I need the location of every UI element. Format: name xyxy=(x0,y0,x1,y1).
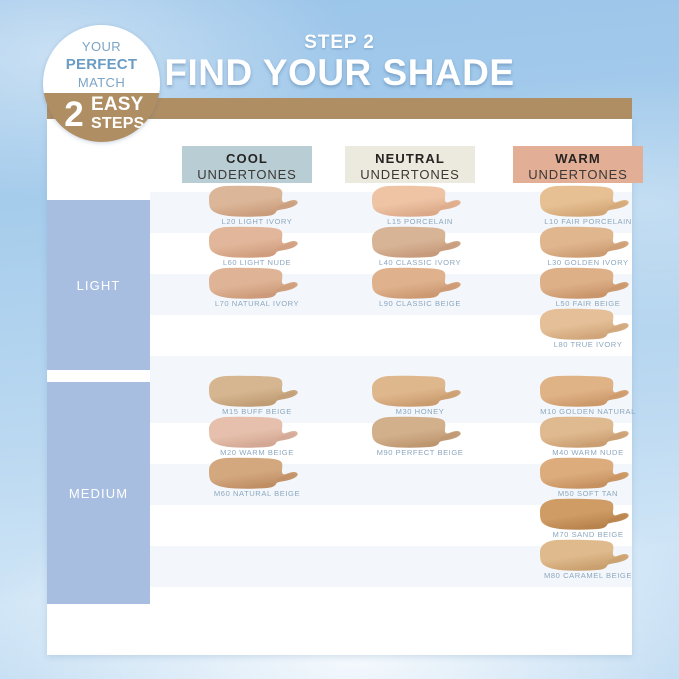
column-header-cool: COOL UNDERTONES xyxy=(182,146,312,183)
shade-swatch[interactable] xyxy=(198,374,316,410)
column-header-neutral-sub: UNDERTONES xyxy=(345,167,475,182)
shade-swatch-icon xyxy=(361,415,479,451)
shade-swatch-icon xyxy=(198,184,316,220)
shade-swatch-icon xyxy=(529,497,647,533)
shade-name-label: L90 CLASSIC BEIGE xyxy=(345,299,495,308)
shade-swatch-icon xyxy=(529,374,647,410)
shade-name-label: M60 NATURAL BEIGE xyxy=(182,489,332,498)
shade-swatch-icon xyxy=(361,184,479,220)
shade-swatch[interactable] xyxy=(529,225,647,261)
shade-swatch[interactable] xyxy=(198,225,316,261)
group-label-medium: MEDIUM xyxy=(47,382,150,604)
shade-swatch[interactable] xyxy=(198,415,316,451)
shade-swatch[interactable] xyxy=(529,184,647,220)
shade-swatch-icon xyxy=(198,374,316,410)
column-header-warm-title: WARM xyxy=(513,151,643,166)
shade-swatch[interactable] xyxy=(198,266,316,302)
shade-cell[interactable]: M60 NATURAL BEIGE xyxy=(182,464,332,505)
shade-cell[interactable]: M90 PERFECT BEIGE xyxy=(345,423,495,464)
shade-swatch[interactable] xyxy=(529,415,647,451)
shade-swatch-icon xyxy=(529,266,647,302)
shade-swatch-icon xyxy=(529,307,647,343)
badge-line-match: MATCH xyxy=(43,75,160,90)
shade-swatch-icon xyxy=(198,456,316,492)
shade-cell[interactable]: M80 CARAMEL BEIGE xyxy=(513,546,663,587)
shade-swatch[interactable] xyxy=(529,307,647,343)
column-header-cool-title: COOL xyxy=(182,151,312,166)
shade-swatch[interactable] xyxy=(529,538,647,574)
shade-swatch-icon xyxy=(529,415,647,451)
column-header-cool-sub: UNDERTONES xyxy=(182,167,312,182)
shade-cell[interactable]: L70 NATURAL IVORY xyxy=(182,274,332,315)
shade-swatch[interactable] xyxy=(198,184,316,220)
badge-step-number: 2 xyxy=(57,93,91,137)
shade-swatch[interactable] xyxy=(529,374,647,410)
shade-grid: L20 LIGHT IVORY L60 LIGHT NUDE L70 NATUR… xyxy=(150,192,632,612)
shade-swatch[interactable] xyxy=(529,456,647,492)
badge-word-easy: EASY xyxy=(91,95,151,115)
shade-swatch[interactable] xyxy=(529,497,647,533)
shade-name-label: L80 TRUE IVORY xyxy=(513,340,663,349)
shade-name-label: M80 CARAMEL BEIGE xyxy=(513,571,663,580)
badge-line-perfect: PERFECT xyxy=(43,56,160,73)
shade-name-label: M90 PERFECT BEIGE xyxy=(345,448,495,457)
perfect-match-badge: YOUR PERFECT MATCH 2 EASY STEPS xyxy=(43,25,160,142)
column-header-neutral: NEUTRAL UNDERTONES xyxy=(345,146,475,183)
shade-swatch[interactable] xyxy=(361,374,479,410)
column-header-warm: WARM UNDERTONES xyxy=(513,146,643,183)
shade-swatch-icon xyxy=(198,415,316,451)
shade-cell[interactable]: L80 TRUE IVORY xyxy=(513,315,663,356)
shade-swatch-icon xyxy=(198,225,316,261)
shade-swatch-icon xyxy=(529,456,647,492)
group-label-light: LIGHT xyxy=(47,200,150,370)
shade-swatch-icon xyxy=(529,225,647,261)
shade-swatch-icon xyxy=(529,184,647,220)
shade-swatch[interactable] xyxy=(361,184,479,220)
shade-swatch-icon xyxy=(529,538,647,574)
shade-name-label: L70 NATURAL IVORY xyxy=(182,299,332,308)
shade-swatch[interactable] xyxy=(198,456,316,492)
shade-swatch[interactable] xyxy=(361,266,479,302)
shade-swatch[interactable] xyxy=(361,225,479,261)
badge-line-your: YOUR xyxy=(43,39,160,54)
shade-swatch-icon xyxy=(198,266,316,302)
shade-cell[interactable]: L90 CLASSIC BEIGE xyxy=(345,274,495,315)
shade-swatch-icon xyxy=(361,266,479,302)
shade-swatch[interactable] xyxy=(529,266,647,302)
badge-word-steps: STEPS xyxy=(91,115,151,133)
shade-swatch-icon xyxy=(361,225,479,261)
column-header-warm-sub: UNDERTONES xyxy=(513,167,643,182)
shade-swatch[interactable] xyxy=(361,415,479,451)
column-header-neutral-title: NEUTRAL xyxy=(345,151,475,166)
shade-swatch-icon xyxy=(361,374,479,410)
